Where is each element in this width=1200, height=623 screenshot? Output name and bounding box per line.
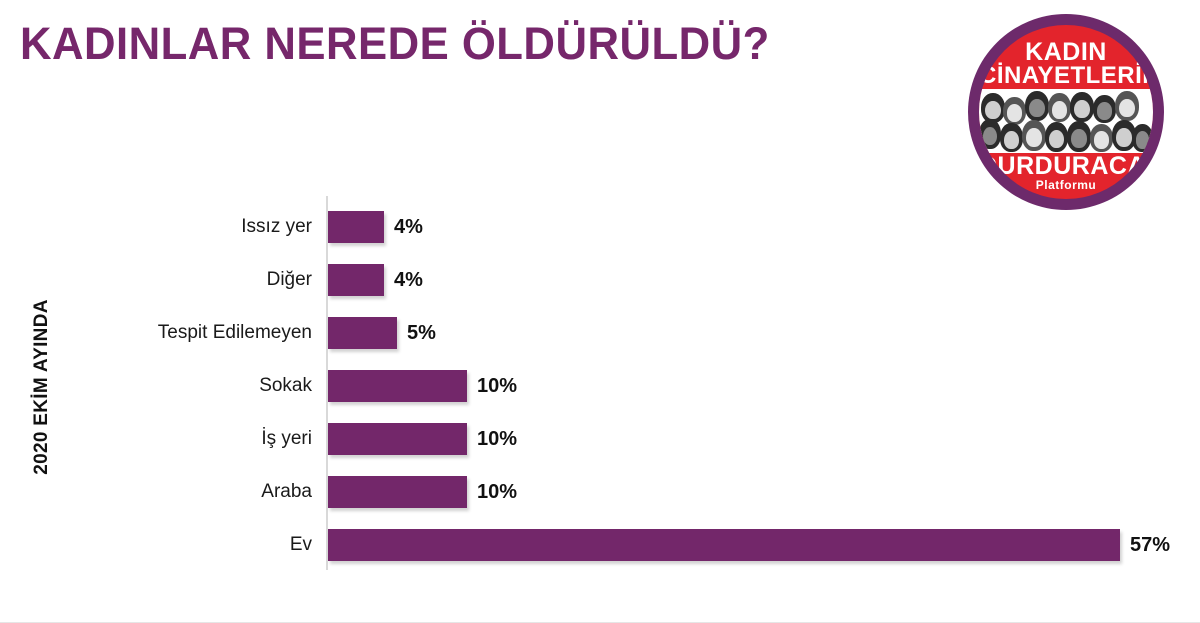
bar-segment[interactable] — [328, 211, 384, 243]
bar-value-label: 4% — [394, 264, 423, 296]
bar-segment[interactable] — [328, 423, 467, 455]
bar-category-label: Ev — [0, 529, 312, 561]
bar-value-label: 10% — [477, 370, 517, 402]
bar-value-label: 4% — [394, 211, 423, 243]
bar-value-label: 10% — [477, 423, 517, 455]
infographic-page: KADINLAR NEREDE ÖLDÜRÜLDÜ? KADIN CİNAYET… — [0, 0, 1200, 623]
bar-row: Araba10% — [0, 476, 1200, 508]
bar-category-label: Araba — [0, 476, 312, 508]
bar-category-label: Sokak — [0, 370, 312, 402]
bar-value-label: 57% — [1130, 529, 1170, 561]
bar-segment[interactable] — [328, 317, 397, 349]
bar-segment[interactable] — [328, 370, 467, 402]
bar-category-label: Diğer — [0, 264, 312, 296]
bar-segment[interactable] — [328, 264, 384, 296]
bar-category-label: Issız yer — [0, 211, 312, 243]
bar-row: Tespit Edilemeyen5% — [0, 317, 1200, 349]
bar-category-label: İş yeri — [0, 423, 312, 455]
bar-segment[interactable] — [328, 529, 1120, 561]
bar-value-label: 10% — [477, 476, 517, 508]
bar-value-label: 5% — [407, 317, 436, 349]
bar-row: Diğer4% — [0, 264, 1200, 296]
bar-row: Issız yer4% — [0, 211, 1200, 243]
bar-chart: Issız yer4%Diğer4%Tespit Edilemeyen5%Sok… — [0, 0, 1200, 623]
bar-row: Sokak10% — [0, 370, 1200, 402]
bar-row: İş yeri10% — [0, 423, 1200, 455]
bar-category-label: Tespit Edilemeyen — [0, 317, 312, 349]
bar-segment[interactable] — [328, 476, 467, 508]
bar-row: Ev57% — [0, 529, 1200, 561]
